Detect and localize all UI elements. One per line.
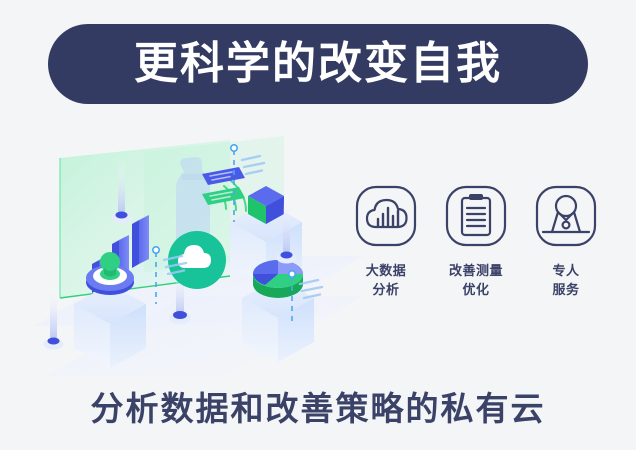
feature-list: 大数据 分析 改善测量 bbox=[348, 184, 604, 334]
bar-1 bbox=[132, 215, 149, 268]
hero-illustration bbox=[34, 126, 364, 376]
feature-label-big-data: 大数据 分析 bbox=[366, 262, 407, 300]
feature-item-measurement[interactable]: 改善测量 优化 bbox=[438, 184, 514, 300]
cloud-bar-chart-icon bbox=[354, 184, 418, 248]
feature-label-line2: 分析 bbox=[372, 282, 399, 297]
feature-label-line1: 专人 bbox=[552, 263, 579, 278]
feature-label-line1: 改善测量 bbox=[449, 263, 503, 278]
page-title: 更科学的改变自我 bbox=[134, 42, 502, 86]
feature-label-measurement: 改善测量 优化 bbox=[449, 262, 503, 300]
tagline: 分析数据和改善策略的私有云 bbox=[0, 382, 636, 430]
feature-label-line2: 优化 bbox=[462, 282, 489, 297]
clipboard-icon bbox=[444, 184, 508, 248]
feature-label-service: 专人 服务 bbox=[552, 262, 579, 300]
feature-label-line2: 服务 bbox=[552, 282, 579, 297]
feature-label-line1: 大数据 bbox=[366, 263, 407, 278]
pie-chart-3d bbox=[253, 260, 303, 298]
person-service-icon bbox=[534, 184, 598, 248]
banner-stage: 更科学的改变自我 bbox=[0, 0, 636, 450]
headline-pill: 更科学的改变自我 bbox=[48, 24, 588, 104]
feature-item-big-data[interactable]: 大数据 分析 bbox=[348, 184, 424, 300]
feature-item-service[interactable]: 专人 服务 bbox=[528, 184, 604, 300]
